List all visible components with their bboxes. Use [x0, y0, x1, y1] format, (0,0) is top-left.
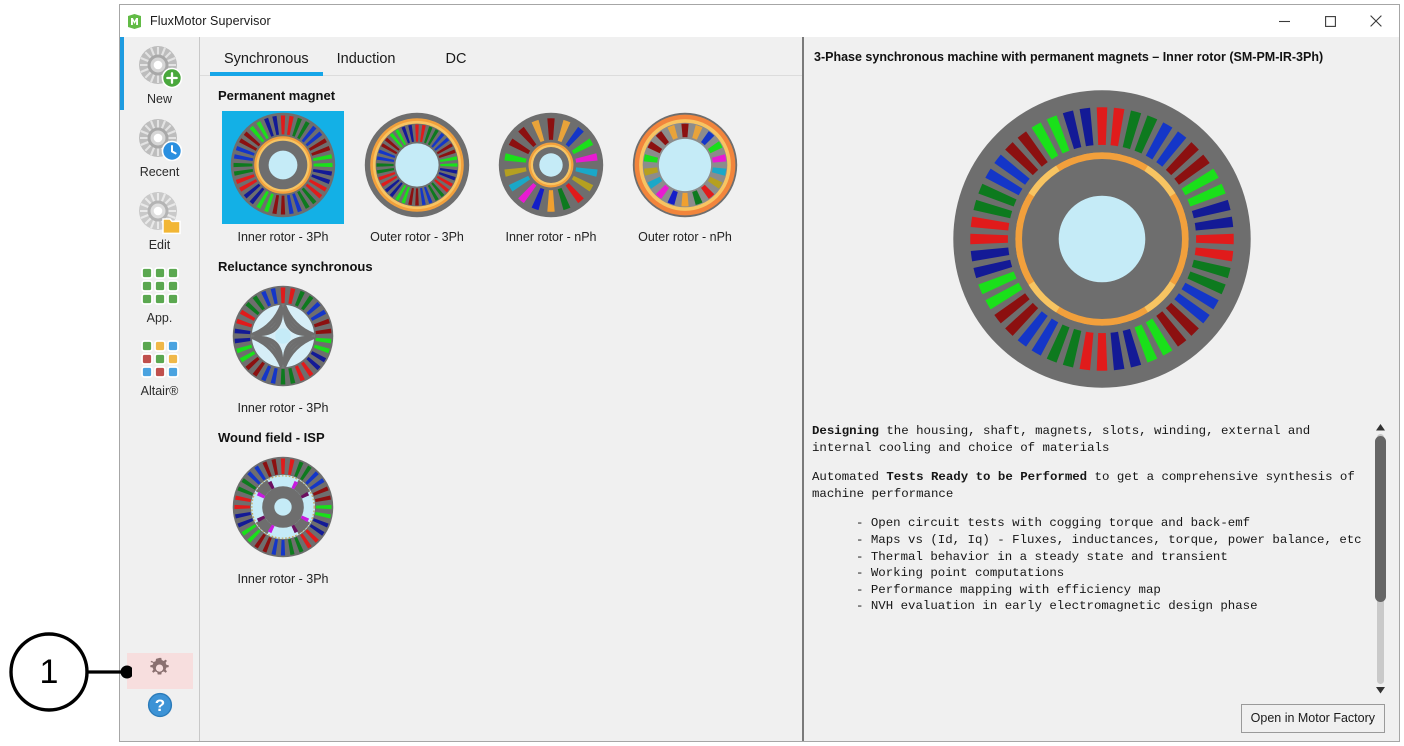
card-caption: Outer rotor - 3Ph — [370, 229, 464, 245]
window-controls — [1261, 5, 1399, 37]
description-scrollbar[interactable] — [1372, 421, 1389, 697]
sidebar-item-label: App. — [147, 311, 173, 326]
sm-pm-outer-rotor-3ph-icon — [363, 111, 471, 224]
card-inner-rotor-nph[interactable]: Inner rotor - nPh — [486, 111, 616, 245]
desc-rest: the housing, shaft, magnets, slots, wind… — [812, 424, 1310, 455]
card-caption: Inner rotor - 3Ph — [237, 229, 328, 245]
tab-bar: Synchronous Induction DC — [200, 37, 802, 76]
tab-dc[interactable]: DC — [410, 51, 481, 75]
callout-number: 1 — [11, 634, 87, 710]
open-in-motor-factory-button[interactable]: Open in Motor Factory — [1241, 704, 1385, 733]
list-item: - Thermal behavior in a steady state and… — [856, 549, 1363, 566]
altair-grid-icon — [136, 335, 184, 383]
group-card-row: Inner rotor - 3Ph — [218, 111, 802, 245]
group-reluctance-synchronous: Reluctance synchronous — [218, 259, 802, 416]
tab-label: DC — [446, 51, 467, 67]
card-outer-rotor-nph[interactable]: Outer rotor - nPh — [620, 111, 750, 245]
group-title: Wound field - ISP — [218, 430, 802, 445]
thumbnail-frame — [624, 111, 746, 224]
card-caption: Outer rotor - nPh — [638, 229, 732, 245]
apps-grid-icon — [136, 262, 184, 310]
thumbnail-frame — [490, 111, 612, 224]
desc-bold-mid: Tests Ready to be Performed — [886, 470, 1087, 484]
sm-pm-inner-rotor-3ph-icon — [229, 111, 337, 224]
list-item: - Working point computations — [856, 565, 1363, 582]
scroll-up-arrow-icon[interactable] — [1372, 421, 1389, 434]
title-bar: FluxMotor Supervisor — [120, 5, 1399, 38]
sm-wf-inner-rotor-3ph-icon — [231, 455, 335, 564]
help-button[interactable]: ? — [127, 689, 193, 725]
card-wound-field-inner-rotor-3ph[interactable]: Inner rotor - 3Ph — [218, 453, 348, 587]
group-card-row: Inner rotor - 3Ph — [218, 282, 802, 416]
recent-motor-icon — [136, 116, 184, 164]
tab-label: Synchronous — [224, 51, 309, 67]
sidebar-item-app[interactable]: App. — [120, 256, 200, 329]
gear-icon — [147, 656, 172, 686]
tab-synchronous[interactable]: Synchronous — [210, 51, 323, 75]
thumbnail-frame — [356, 111, 478, 224]
open-button-wrap: Open in Motor Factory — [1241, 704, 1385, 733]
sidebar-item-recent[interactable]: Recent — [120, 110, 200, 183]
list-item: - Performance mapping with efficiency ma… — [856, 582, 1363, 599]
sm-pm-outer-rotor-nph-icon — [631, 111, 739, 224]
title-bar-left: FluxMotor Supervisor — [126, 5, 271, 37]
screenshot-root: FluxMotor Supervisor — [0, 0, 1404, 746]
fluxmotor-logo-icon — [126, 13, 143, 30]
thumbnail-frame — [222, 282, 344, 395]
machine-gallery: Permanent magnet — [200, 76, 802, 741]
description-paragraph-1: Designing the housing, shaft, magnets, s… — [812, 423, 1363, 456]
sidebar-item-new[interactable]: New — [120, 37, 200, 110]
sm-rel-inner-rotor-3ph-icon — [231, 284, 335, 393]
details-panel: 3-Phase synchronous machine with permane… — [802, 37, 1399, 741]
test-list: - Open circuit tests with cogging torque… — [812, 515, 1363, 615]
window-body: New — [120, 37, 1399, 741]
list-item: - NVH evaluation in early electromagneti… — [856, 598, 1363, 615]
card-caption: Inner rotor - nPh — [505, 229, 596, 245]
desc-bold-lead: Designing — [812, 424, 879, 438]
tab-induction[interactable]: Induction — [323, 51, 410, 75]
sm-pm-ir-3ph-cross-section-icon — [942, 74, 1262, 409]
group-title: Permanent magnet — [218, 88, 802, 103]
scroll-down-arrow-icon[interactable] — [1372, 684, 1389, 697]
details-title: 3-Phase synchronous machine with permane… — [804, 37, 1399, 65]
list-item: - Open circuit tests with cogging torque… — [856, 515, 1363, 532]
settings-button[interactable] — [127, 653, 193, 689]
machine-cross-section-figure — [804, 65, 1399, 417]
tab-label: Induction — [337, 51, 396, 67]
content-area: Synchronous Induction DC Permanent magne… — [200, 37, 802, 741]
minimize-button[interactable] — [1261, 5, 1307, 37]
card-outer-rotor-3ph[interactable]: Outer rotor - 3Ph — [352, 111, 482, 245]
description-text: Designing the housing, shaft, magnets, s… — [812, 423, 1363, 701]
callout-annotation-1: 1 — [8, 626, 100, 718]
group-title: Reluctance synchronous — [218, 259, 802, 274]
list-item: - Maps vs (Id, Iq) - Fluxes, inductances… — [856, 532, 1363, 549]
maximize-button[interactable] — [1307, 5, 1353, 37]
sidebar-item-label: Recent — [140, 165, 180, 180]
close-button[interactable] — [1353, 5, 1399, 37]
card-reluctance-inner-rotor-3ph[interactable]: Inner rotor - 3Ph — [218, 282, 348, 416]
description-area: Designing the housing, shaft, magnets, s… — [808, 417, 1389, 741]
sidebar-item-edit[interactable]: Edit — [120, 183, 200, 256]
group-wound-field-isp: Wound field - ISP — [218, 430, 802, 587]
sidebar-item-label: New — [147, 92, 172, 107]
group-permanent-magnet: Permanent magnet — [218, 88, 802, 245]
sidebar-item-altair[interactable]: Altair® — [120, 329, 200, 402]
group-card-row: Inner rotor - 3Ph — [218, 453, 802, 587]
new-motor-icon — [136, 43, 184, 91]
window-title: FluxMotor Supervisor — [150, 14, 271, 28]
thumbnail-frame — [222, 111, 344, 224]
scrollbar-thumb[interactable] — [1375, 436, 1386, 602]
navigation-rail: New — [120, 37, 200, 741]
card-caption: Inner rotor - 3Ph — [237, 571, 328, 587]
thumbnail-frame — [222, 453, 344, 566]
sm-pm-inner-rotor-nph-icon — [497, 111, 605, 224]
description-paragraph-2: Automated Tests Ready to be Performed to… — [812, 469, 1363, 502]
card-inner-rotor-3ph[interactable]: Inner rotor - 3Ph — [218, 111, 348, 245]
sidebar-item-label: Edit — [149, 238, 171, 253]
desc-pre: Automated — [812, 470, 886, 484]
svg-text:?: ? — [154, 696, 164, 715]
question-mark-icon: ? — [147, 692, 173, 723]
card-caption: Inner rotor - 3Ph — [237, 400, 328, 416]
application-window: FluxMotor Supervisor — [119, 4, 1400, 742]
sidebar-item-label: Altair® — [141, 384, 179, 399]
edit-motor-icon — [136, 189, 184, 237]
